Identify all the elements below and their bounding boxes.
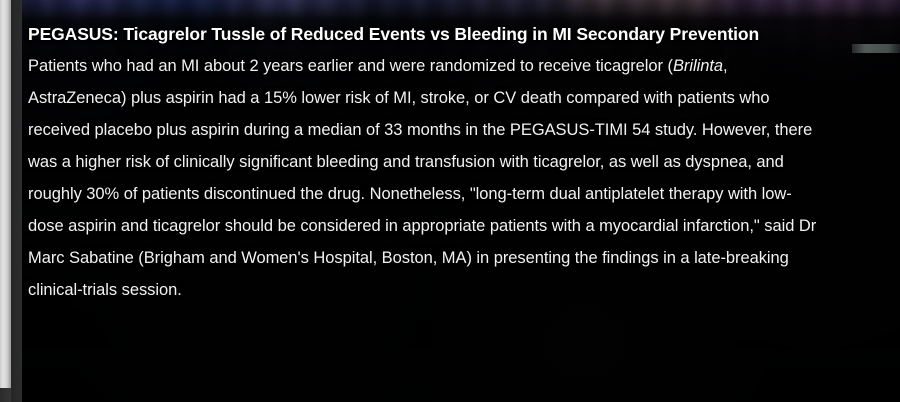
article-paragraph: Patients who had an MI about 2 years ear… [28,50,818,306]
article-paragraph-part-2: , AstraZeneca) plus aspirin had a 15% lo… [28,57,816,299]
vertical-scrollbar-thumb[interactable] [0,0,11,388]
article-viewport: PEGASUS: Ticagrelor Tussle of Reduced Ev… [0,0,900,402]
top-right-edge-bar [852,44,900,53]
article-paragraph-part-1: Patients who had an MI about 2 years ear… [28,57,673,75]
vertical-scrollbar-end-cap[interactable] [0,388,11,402]
article-headline: PEGASUS: Ticagrelor Tussle of Reduced Ev… [28,18,818,50]
article-content: PEGASUS: Ticagrelor Tussle of Reduced Ev… [28,18,818,306]
drug-brand-name: Brilinta [673,57,723,75]
